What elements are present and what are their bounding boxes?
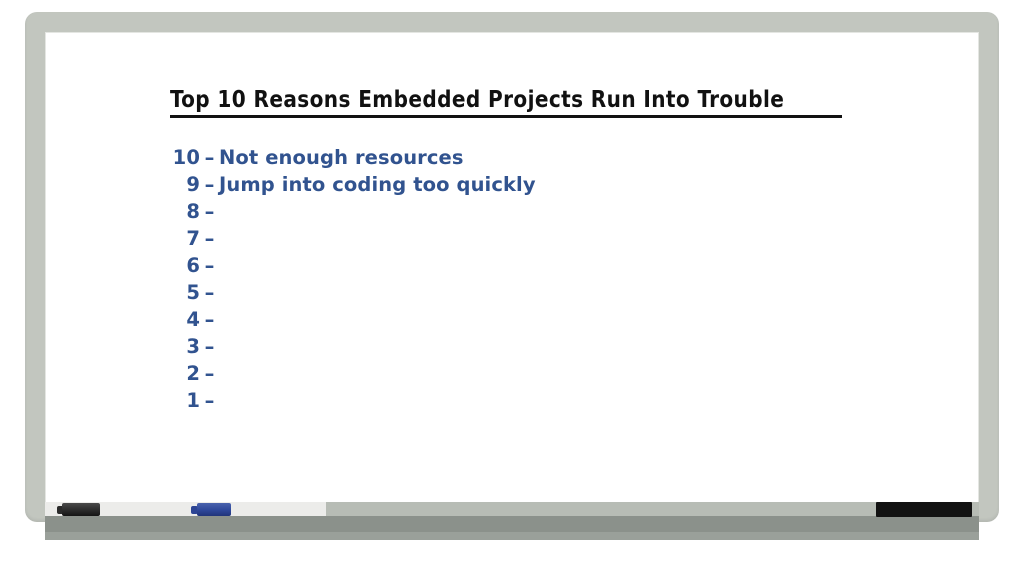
list-item-number: 3 [170,335,200,358]
list-item: 10–Not enough resources [170,146,890,173]
list-item-text: Jump into coding too quickly [219,173,890,196]
list-item-dash: – [200,362,219,385]
list-item-number: 1 [170,389,200,412]
list-item-number: 10 [170,146,200,169]
list-item-number: 9 [170,173,200,196]
blue-marker-icon[interactable] [197,503,231,516]
list-item-number: 2 [170,362,200,385]
list-item: 4– [170,308,890,335]
list-item: 9–Jump into coding too quickly [170,173,890,200]
list-item: 8– [170,200,890,227]
reasons-list: 10–Not enough resources9–Jump into codin… [170,146,890,416]
list-item-dash: – [200,227,219,250]
marker-tray-shadow [45,532,979,540]
list-item: 2– [170,362,890,389]
black-marker-icon[interactable] [62,503,100,516]
list-item-dash: – [200,281,219,304]
title-underline [170,115,842,118]
list-item-dash: – [200,173,219,196]
list-item: 3– [170,335,890,362]
list-item-dash: – [200,146,219,169]
list-item-dash: – [200,335,219,358]
list-item-text: Not enough resources [219,146,890,169]
list-item-number: 6 [170,254,200,277]
list-item-number: 5 [170,281,200,304]
list-item-number: 8 [170,200,200,223]
page-title: Top 10 Reasons Embedded Projects Run Int… [170,88,868,112]
list-item-dash: – [200,308,219,331]
list-item: 5– [170,281,890,308]
list-item-dash: – [200,200,219,223]
eraser-icon[interactable] [876,502,972,517]
list-item: 7– [170,227,890,254]
list-item-number: 7 [170,227,200,250]
list-item-number: 4 [170,308,200,331]
list-item-dash: – [200,389,219,412]
list-item: 1– [170,389,890,416]
list-item-dash: – [200,254,219,277]
list-item: 6– [170,254,890,281]
whiteboard-content: Top 10 Reasons Embedded Projects Run Int… [170,88,890,416]
marker-tray-front [45,516,979,532]
whiteboard-scene: Top 10 Reasons Embedded Projects Run Int… [0,0,1024,576]
